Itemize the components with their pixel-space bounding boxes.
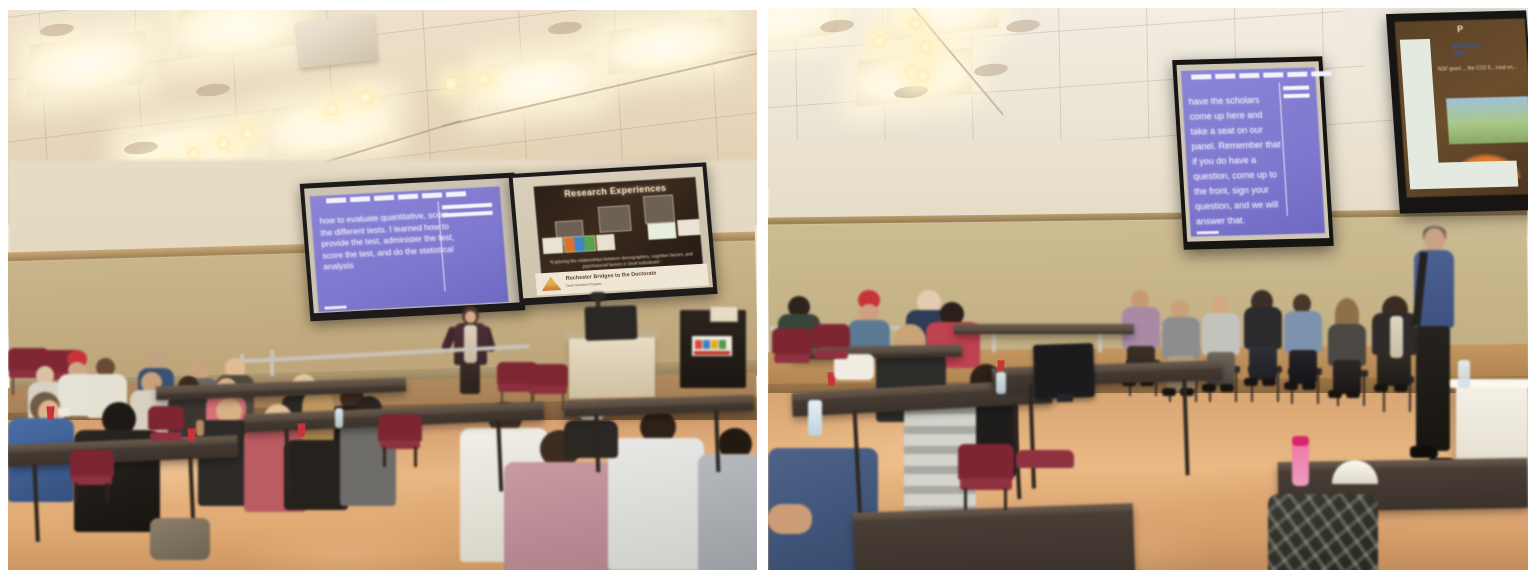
audience-chair (70, 450, 114, 500)
slide-screen: Research Experiences "Exploring the rela… (508, 162, 717, 305)
caption-screen: how to evaluate quantitative, score the … (300, 173, 526, 322)
audience-table (954, 324, 1134, 334)
screen-surface: have the scholars come up here and take … (1176, 61, 1329, 241)
caption-text: have the scholars come up here and take … (1188, 92, 1288, 229)
head (1424, 228, 1445, 252)
nsf-badge: PROJECT USA (1452, 44, 1481, 59)
caption-side-pane (1279, 81, 1320, 216)
av-sign (692, 336, 732, 356)
track-light (444, 76, 459, 91)
right-photo: have the scholars come up here and take … (768, 8, 1528, 570)
handbag (150, 518, 210, 560)
bridges-logo-icon (541, 276, 562, 291)
caption-toolbar (1191, 71, 1331, 80)
nsf-slide-screen: P PROJECT USA NSF grant ... the CO2 fl..… (1386, 10, 1528, 213)
caption-side-pane (438, 199, 502, 292)
plaid-jacket (1268, 494, 1378, 570)
slide-logo (677, 219, 700, 236)
toolbar-cell (398, 194, 418, 200)
photo-collage: how to evaluate quantitative, score the … (0, 0, 1528, 580)
slide-logo (563, 235, 596, 253)
footer-title: Rochester Bridges to the Doctorate (565, 270, 656, 281)
av-sign-band (694, 351, 730, 355)
toolbar-cell (374, 195, 394, 201)
track-light (908, 16, 923, 31)
caption-status (324, 306, 346, 310)
track-light (872, 34, 887, 49)
toolbar-cell (1191, 74, 1211, 80)
caption-slide: have the scholars come up here and take … (1181, 67, 1325, 236)
projection-light-block (1408, 161, 1518, 190)
audience-table-foreground (853, 503, 1135, 570)
toolbar-cell (1239, 73, 1259, 79)
left-photo: how to evaluate quantitative, score the … (8, 10, 757, 570)
toolbar-cell (350, 196, 370, 202)
track-light (240, 126, 255, 141)
nsf-badge-line2: USA (1453, 51, 1466, 57)
track-light (216, 136, 231, 151)
audience-chair (812, 324, 850, 368)
wall-outlet-plate (710, 306, 738, 322)
pane-line (442, 203, 492, 210)
audience-chair (378, 414, 422, 464)
toolbar-cell (446, 191, 466, 197)
computer-monitor (1033, 343, 1095, 399)
screen-surface: Research Experiences "Exploring the rela… (513, 167, 713, 299)
audience-person (698, 428, 757, 570)
screen-surface: how to evaluate quantitative, score the … (304, 178, 521, 313)
white-cup (58, 408, 70, 416)
audience-chair (958, 444, 1014, 510)
track-light (918, 40, 933, 55)
research-slide: Research Experiences "Exploring the rela… (534, 177, 704, 278)
toolbar-cell (1311, 71, 1331, 77)
footer-subtitle: Deaf Scholars Program (566, 282, 602, 288)
track-light (916, 68, 931, 83)
panelist-5 (1280, 294, 1326, 394)
audience-person (608, 410, 704, 570)
slide-logo (596, 234, 615, 251)
audience-chair (148, 406, 184, 448)
podium (569, 335, 655, 399)
track-light (358, 90, 373, 105)
water-bottle (335, 408, 343, 428)
slide-photo (598, 205, 632, 233)
nsf-body-text: NSF grant ... the CO2 fl... rural en... (1438, 64, 1525, 73)
nsf-badge-line1: PROJECT (1452, 44, 1481, 51)
legs (1416, 326, 1450, 451)
panelist-3 (1198, 296, 1244, 396)
water-bottle (1458, 360, 1470, 388)
audience-chair (772, 328, 812, 374)
toolbar-cell (326, 197, 346, 203)
audience-chair (1016, 450, 1074, 510)
toolbar-cell (1263, 72, 1283, 78)
panelist-6 (1324, 298, 1370, 398)
podium-equipment (584, 305, 637, 341)
caption-slide: how to evaluate quantitative, score the … (310, 186, 509, 312)
ceiling-projector (296, 14, 378, 68)
slide-logo (542, 237, 563, 254)
standing-presenter (1408, 228, 1460, 478)
caption-status (1197, 231, 1219, 235)
water-bottle (996, 372, 1006, 394)
track-light (476, 72, 491, 87)
nsf-illustration (1446, 96, 1528, 144)
track-light (186, 146, 201, 161)
pane-line (442, 211, 492, 218)
panel-caption-screen: have the scholars come up here and take … (1172, 56, 1334, 250)
nsf-slide-heading: P (1395, 22, 1526, 35)
handrail-post (270, 350, 274, 376)
pane-line (1283, 94, 1309, 99)
water-bottle (196, 420, 204, 436)
pink-water-bottle (1292, 436, 1309, 486)
slide-photo (643, 194, 675, 224)
water-bottle (808, 400, 822, 436)
toolbar-cell (422, 192, 442, 198)
slide-logo (647, 222, 676, 240)
shoe (1410, 446, 1438, 458)
track-light (324, 102, 339, 117)
toolbar-cell (1215, 73, 1235, 79)
microphone-icon (590, 292, 606, 301)
pane-line (1283, 86, 1309, 91)
toolbar-cell (1287, 72, 1307, 78)
